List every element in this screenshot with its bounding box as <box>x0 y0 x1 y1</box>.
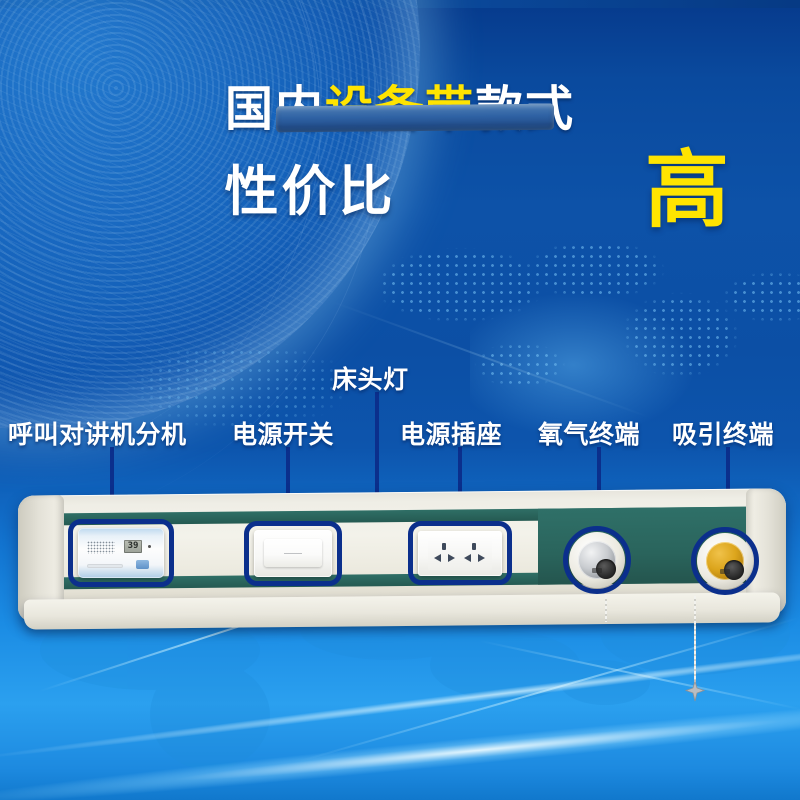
callout-label-power-socket: 电源插座 <box>400 415 502 451</box>
highlight-intercom <box>68 519 174 587</box>
callout-label-oxygen: 氧气终端 <box>538 415 640 451</box>
pull-cord-weight-icon[interactable] <box>684 680 706 702</box>
callout-label-bed-lamp: 床头灯 <box>332 360 409 396</box>
callout-label-intercom: 呼叫对讲机分机 <box>8 415 187 451</box>
product-banner: 国内设备带款式 性价比 高 呼叫对讲机分机 电源开关 床头灯 电源插座 氧气终端… <box>0 0 800 800</box>
dotted-world-map-left <box>30 330 390 480</box>
bed-lamp-diffuser[interactable] <box>276 104 554 133</box>
pull-cord-string[interactable] <box>694 596 696 692</box>
callout-label-power-switch: 电源开关 <box>232 415 334 451</box>
oxygen-terminal-cord <box>605 596 607 622</box>
highlight-power-socket <box>408 521 512 585</box>
highlight-power-switch <box>244 521 342 586</box>
highlight-suction <box>691 527 759 595</box>
highlight-oxygen <box>563 526 631 594</box>
panel-lower-rail <box>24 592 780 629</box>
callout-label-suction: 吸引终端 <box>672 415 774 451</box>
